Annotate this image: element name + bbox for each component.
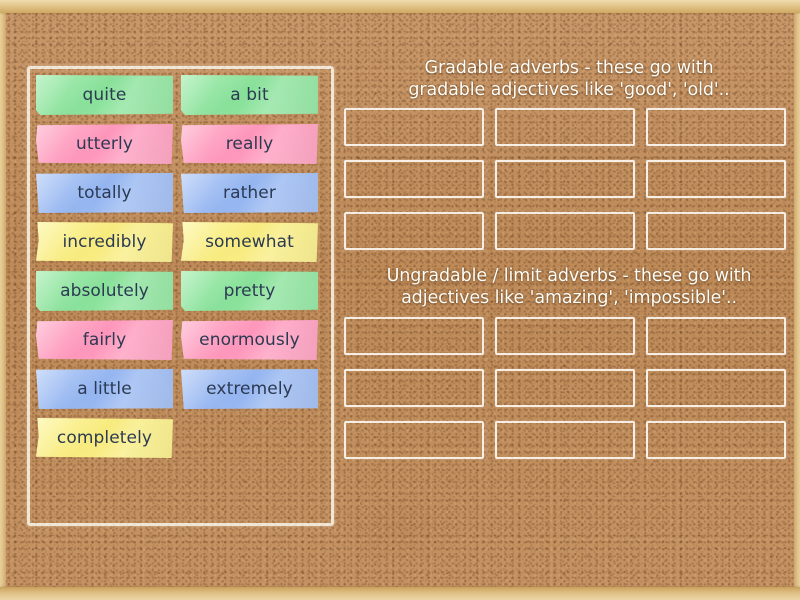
word-card[interactable]: absolutely [36,271,173,311]
word-bank-panel: quite a bit utterly really totally rathe… [27,66,334,526]
word-card-label: a bit [226,85,273,105]
group-gradable-adverbs: Gradable adverbs - these go with gradabl… [344,58,794,250]
word-card-label: incredibly [58,232,150,252]
dropzone[interactable] [495,108,635,146]
word-card[interactable]: enormously [181,320,318,360]
word-card[interactable]: rather [181,173,318,213]
word-card-label: quite [79,85,131,105]
corkboard-canvas: quite a bit utterly really totally rathe… [0,0,800,600]
dropzone[interactable] [646,369,786,407]
word-card-label: utterly [72,134,137,154]
dropzone[interactable] [646,421,786,459]
word-card[interactable]: fairly [36,320,173,360]
group-heading-line-1: Ungradable / limit adverbs - these go wi… [348,266,790,288]
word-card[interactable]: pretty [181,271,318,311]
group-heading: Ungradable / limit adverbs - these go wi… [344,264,794,316]
group-heading-line-2: gradable adjectives like 'good', 'old'.. [348,80,790,102]
word-card-grid: quite a bit utterly really totally rathe… [36,75,325,458]
word-card-label: enormously [195,330,304,350]
word-card-label: absolutely [56,281,153,301]
dropzone[interactable] [495,421,635,459]
group-heading-line-2: adjectives like 'amazing', 'impossible'.… [348,288,790,310]
word-card-label: completely [53,428,156,448]
dropzone[interactable] [646,108,786,146]
groups-panel: Gradable adverbs - these go with gradabl… [344,58,794,473]
word-card[interactable]: completely [36,418,173,458]
dropzone[interactable] [495,369,635,407]
dropzone[interactable] [646,317,786,355]
word-card-label: rather [219,183,280,203]
word-card-label: fairly [79,330,131,350]
wood-frame-bottom [0,587,800,600]
dropzone[interactable] [495,160,635,198]
dropzone-grid [344,317,794,459]
wood-frame-top [0,0,800,13]
group-heading-line-1: Gradable adverbs - these go with [348,58,790,80]
wood-frame-left [0,0,6,600]
dropzone[interactable] [495,317,635,355]
group-ungradable-limit-adverbs: Ungradable / limit adverbs - these go wi… [344,264,794,458]
dropzone[interactable] [495,212,635,250]
word-card[interactable]: somewhat [181,222,318,262]
word-card-label: totally [73,183,135,203]
word-card[interactable]: really [181,124,318,164]
word-card[interactable]: totally [36,173,173,213]
word-card[interactable]: extremely [181,369,318,409]
dropzone[interactable] [344,108,484,146]
dropzone[interactable] [646,212,786,250]
dropzone[interactable] [344,212,484,250]
word-card[interactable]: utterly [36,124,173,164]
wood-frame-right [794,0,800,600]
dropzone[interactable] [344,369,484,407]
dropzone[interactable] [344,160,484,198]
word-card-label: somewhat [201,232,298,252]
word-card[interactable]: a bit [181,75,318,115]
dropzone-grid [344,108,794,250]
dropzone[interactable] [344,421,484,459]
word-card-label: extremely [202,379,297,399]
word-card[interactable]: a little [36,369,173,409]
word-card-label: pretty [220,281,280,301]
word-card[interactable]: incredibly [36,222,173,262]
group-heading: Gradable adverbs - these go with gradabl… [344,58,794,108]
dropzone[interactable] [344,317,484,355]
word-card-label: really [222,134,278,154]
word-card[interactable]: quite [36,75,173,115]
word-card-label: a little [73,379,136,399]
dropzone[interactable] [646,160,786,198]
